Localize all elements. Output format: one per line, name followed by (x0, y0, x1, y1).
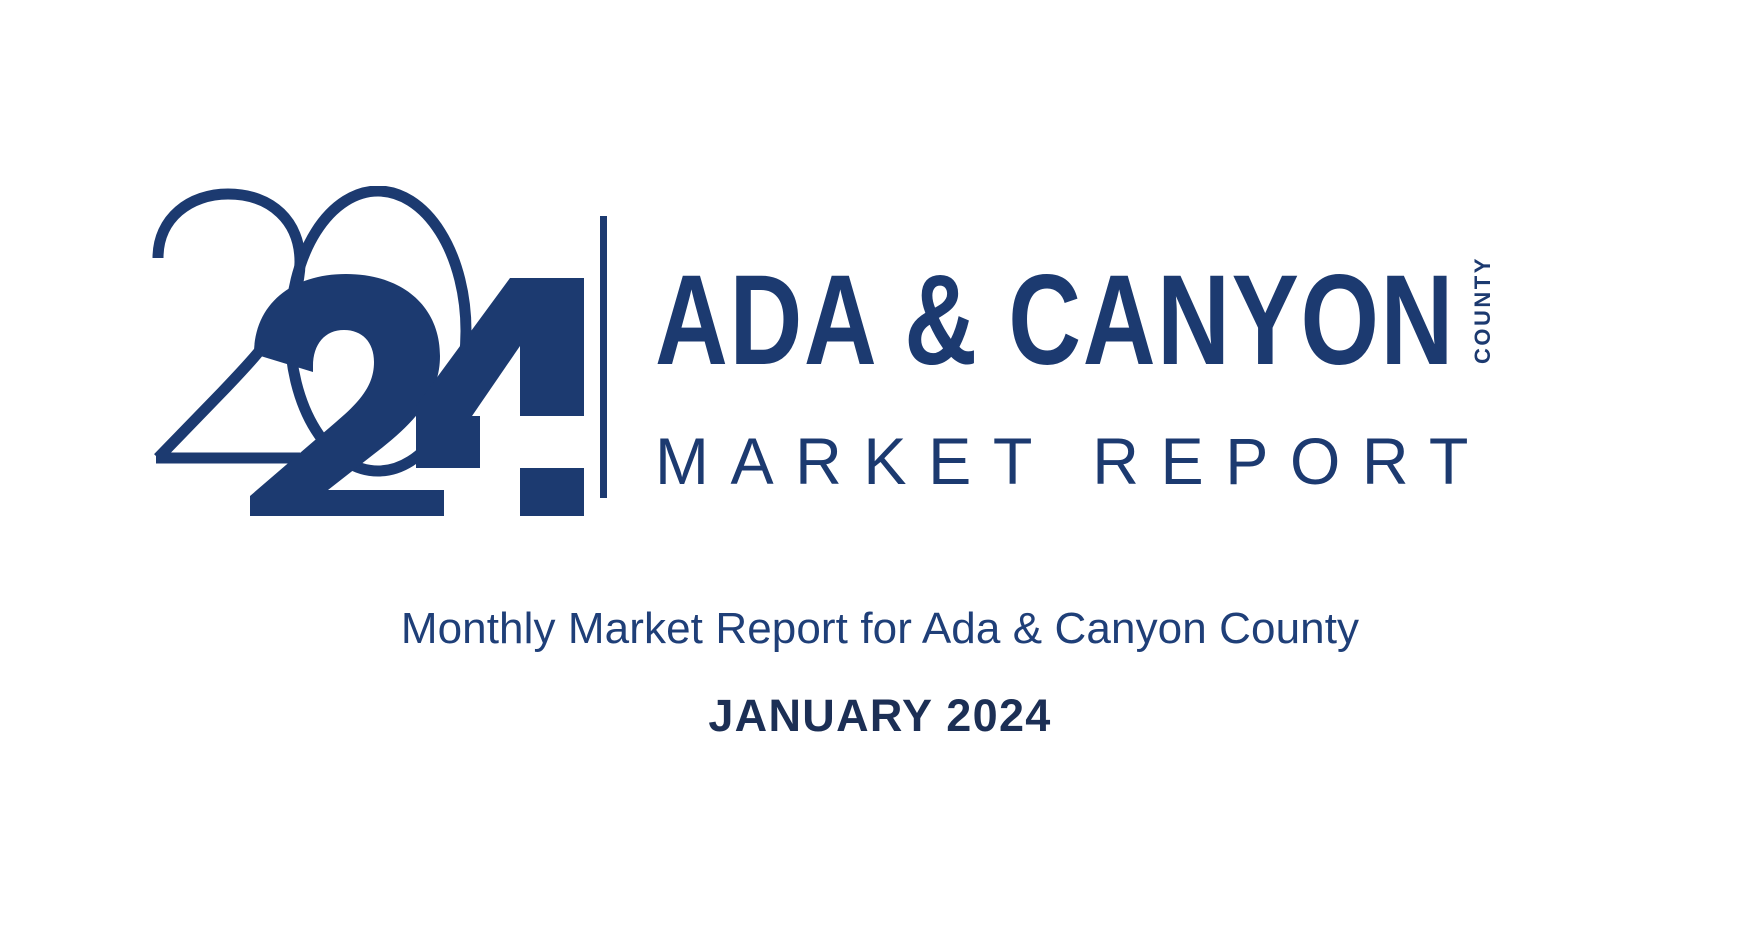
report-subtitle-block: Monthly Market Report for Ada & Canyon C… (0, 604, 1760, 741)
report-date-line: JANUARY 2024 (0, 691, 1760, 741)
brand-title-text: ADA & CANYON (655, 249, 1455, 392)
brand-county-superscript: COUNTY (1470, 256, 1495, 364)
brand-logo-lockup: ADA & CANYON COUNTY MARKET REPORT (150, 186, 1610, 516)
report-cover-page: ADA & CANYON COUNTY MARKET REPORT Monthl… (0, 0, 1760, 926)
brand-subtitle-text: MARKET REPORT (655, 424, 1490, 498)
brand-logo-svg: ADA & CANYON COUNTY MARKET REPORT (150, 186, 1610, 516)
logo-divider-rule (600, 216, 607, 498)
report-description-line: Monthly Market Report for Ada & Canyon C… (0, 604, 1760, 653)
